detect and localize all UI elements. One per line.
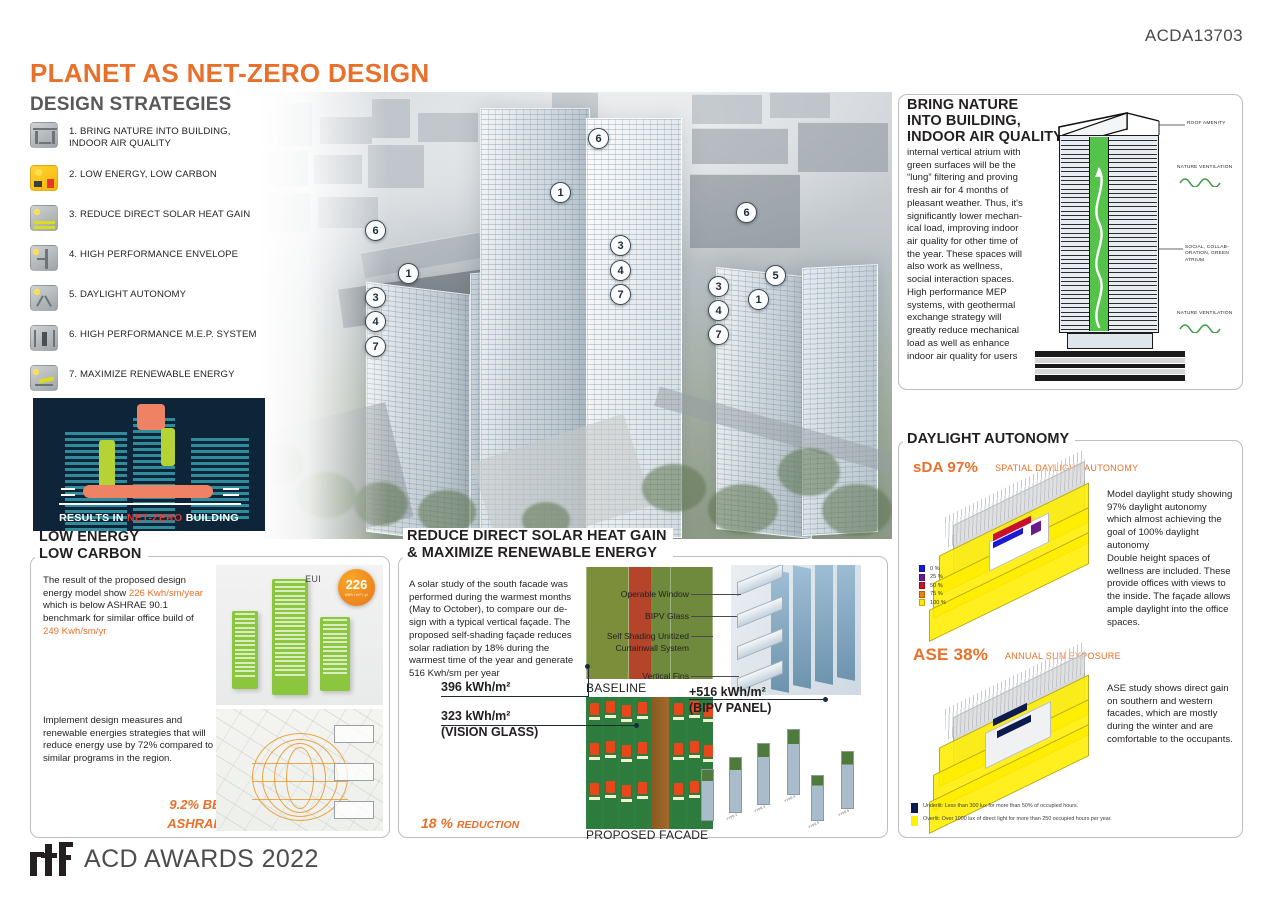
tree-cluster [822, 484, 892, 536]
le-hl2: 249 Kwh/sm/yr [43, 626, 106, 637]
sda-legend-row: 100 % [919, 599, 946, 606]
city-block [692, 94, 762, 124]
value-vision-glass: 323 kWh/m² [441, 709, 510, 723]
bipv-panel-type-label: TYPE 6 [838, 808, 850, 817]
legend-swatch [919, 574, 925, 581]
render-callout-1: 1 [550, 182, 571, 203]
ventilation-wave-icon [1179, 321, 1225, 333]
value-vision-glass-note: (VISION GLASS) [441, 725, 538, 739]
strategy-label: 4. HIGH PERFORMANCE ENVELOPE [69, 245, 238, 261]
massing-tower-mid [320, 617, 350, 691]
leader-line-bipv [689, 699, 825, 700]
sda-legend-row: 25 % [919, 574, 946, 581]
solar-title-line1: REDUCE DIRECT SOLAR HEAT GAIN [407, 528, 667, 545]
ase-sun-exposure-model-image [923, 671, 1113, 821]
legend-label: 0 % [930, 566, 940, 572]
city-block [320, 116, 372, 144]
leader-dot-bipv [823, 697, 828, 702]
strategy-item-1[interactable]: 1. BRING NATURE INTO BUILDING, INDOOR AI… [30, 122, 270, 151]
bipv-panel-strip [841, 751, 854, 809]
bipv-panel-type-label: TYPE 5 [808, 820, 820, 829]
reduction-callout: 18 % REDUCTION [421, 815, 519, 831]
bipv-panel-type-label: TYPE 3 [754, 804, 766, 813]
board-code: ACDA13703 [1145, 26, 1243, 46]
strategy-label: 5. DAYLIGHT AUTONOMY [69, 285, 186, 301]
facade-callout-label: Self Shading Unitized [585, 631, 689, 641]
proposed-facade-label: PROPOSED FACADE [586, 828, 708, 842]
strategy-item-7[interactable]: 7. MAXIMIZE RENEWABLE ENERGY [30, 365, 270, 391]
value-baseline: 396 kWh/m² [441, 680, 510, 694]
section-podium-band [1035, 351, 1185, 357]
label-nature-ventilation-top: NATURE VENTILATION [1177, 165, 1232, 171]
sda-legend: 0 %25 %50 %75 %100 % [919, 565, 946, 608]
facade-callout-label: Curtainwall System [585, 643, 689, 653]
design-strategies-heading: DESIGN STRATEGIES [30, 94, 232, 116]
mep-system-icon [30, 325, 58, 351]
ase-legend-row: Overlit: Over 1000 lux of direct light f… [911, 816, 1153, 826]
energy-model-massing-image: EUI 226 kWh / m² / yr [216, 565, 383, 705]
value-bipv-note: (BIPV PANEL) [689, 701, 771, 715]
strategy-item-5[interactable]: 5. DAYLIGHT AUTONOMY [30, 285, 270, 311]
city-block [368, 144, 424, 188]
bipv-panel-strip [729, 757, 742, 813]
site-callout-box [334, 801, 374, 819]
eui-value: 226 [346, 579, 368, 591]
sda-legend-row: 75 % [919, 591, 946, 598]
presentation-board: ACDA13703 PLANET AS NET-ZERO DESIGN DESI… [0, 0, 1273, 900]
nature-text-1: internal vertical atrium with green surf… [907, 147, 1025, 287]
envelope-icon [30, 245, 58, 271]
ventilation-wave-icon [1179, 175, 1225, 187]
city-block [798, 122, 888, 172]
aerial-render-image: 6166134734734751 [222, 92, 892, 539]
low-energy-text-2: Implement design measures and renewable … [43, 715, 215, 766]
bring-nature-panel: BRING NATURE INTO BUILDING, INDOOR AIR Q… [898, 94, 1243, 390]
bipv-panel-strip [701, 769, 714, 821]
massing-tower-tall [272, 579, 308, 695]
baseline-heatmap-image [586, 567, 713, 679]
strategy-label: 6. HIGH PERFORMANCE M.E.P. SYSTEM [69, 325, 257, 341]
render-callout-6: 6 [365, 220, 386, 241]
net-zero-caption: RESULTS IN NET-ZERO BUILDING [33, 512, 265, 524]
city-block [770, 92, 830, 118]
nz-caption-pre: RESULTS IN [59, 512, 127, 524]
bipv-panel-type-label: TYPE 4 [784, 794, 796, 803]
eui-unit: kWh / m² / yr [345, 593, 368, 597]
nz-solar-pv-icon [137, 404, 165, 430]
daylight-autonomy-panel: DAYLIGHT AUTONOMY sDA 97% SPATIAL DAYLIG… [898, 440, 1243, 838]
city-block [418, 112, 478, 142]
section-podium-band [1035, 364, 1185, 368]
eui-label: EUI [305, 574, 321, 584]
leader-dot-baseline [585, 664, 590, 669]
city-block [692, 128, 788, 164]
massing-tower-small [232, 611, 258, 689]
solar-description: A solar study of the south facade was pe… [409, 579, 584, 681]
proposed-facade-heatmap-image [586, 697, 713, 829]
render-callout-6: 6 [588, 128, 609, 149]
legend-label: 50 % [930, 583, 943, 589]
bipv-panel-type-label: TYPE 2 [726, 812, 738, 821]
low-energy-title-line2: LOW CARBON [39, 546, 142, 563]
nz-rule [223, 494, 239, 496]
facade-callout-label: BIPV Glass [585, 611, 689, 621]
site-callout-box [334, 725, 374, 743]
energy-carbon-icon [30, 165, 58, 191]
facade-glass [793, 565, 811, 689]
ase-text-1: ASE study shows direct gain on southern … [1107, 683, 1233, 747]
nz-green-core-center [161, 428, 175, 466]
footer-text: ACD AWARDS 2022 [84, 845, 319, 874]
facade-callout-leader [691, 616, 737, 617]
render-callout-7: 7 [610, 284, 631, 305]
bipv-panel-types-diagram: TYPE 1TYPE 2TYPE 3TYPE 4TYPE 5TYPE 6 [699, 717, 879, 829]
bipv-panel-type-label: TYPE 1 [698, 820, 710, 829]
facade-callout-leader [691, 594, 741, 595]
ase-legend-row: Underlit: Less than 300 lux for more tha… [911, 803, 1153, 813]
legend-label: Underlit: Less than 300 lux for more tha… [923, 803, 1153, 810]
daylight-icon [30, 285, 58, 311]
leader-line-vision [441, 725, 637, 726]
city-block [278, 102, 312, 146]
reduction-word: REDUCTION [457, 819, 519, 831]
legend-label: Overlit: Over 1000 lux of direct light f… [923, 816, 1153, 823]
ase-metric: ASE 38% [913, 645, 988, 665]
renewable-energy-icon [30, 365, 58, 391]
facade-callout-label: Vertical Fins [585, 671, 689, 681]
bridge-nature-icon [30, 122, 58, 148]
nz-rule [223, 488, 239, 490]
city-block [314, 154, 362, 184]
nature-text-2: High performance MEP systems, with geoth… [907, 287, 1025, 363]
strategy-item-4[interactable]: 4. HIGH PERFORMANCE ENVELOPE [30, 245, 270, 271]
solar-heat-gain-panel: REDUCE DIRECT SOLAR HEAT GAIN & MAXIMIZE… [398, 556, 888, 838]
legend-label: 25 % [930, 574, 943, 580]
tree-cluster [708, 484, 778, 534]
site-plan-image [216, 709, 383, 831]
nz-caption-highlight: NET-ZERO [127, 512, 182, 524]
legend-label: 100 % [930, 600, 946, 606]
sda-text-1: Model daylight study showing 97% dayligh… [1107, 489, 1233, 553]
facade-glass [815, 565, 833, 685]
design-strategies-list: 1. BRING NATURE INTO BUILDING, INDOOR AI… [30, 122, 270, 405]
strategy-label: 7. MAXIMIZE RENEWABLE ENERGY [69, 365, 235, 381]
sun-path-line [252, 799, 348, 800]
daylight-panel-title: DAYLIGHT AUTONOMY [903, 431, 1075, 447]
sda-daylight-model-image [923, 479, 1113, 629]
section-podium-band [1035, 358, 1185, 363]
facade-axonometric-image [731, 565, 861, 695]
sda-text-2: Double height spaces of wellness are inc… [1107, 553, 1233, 629]
render-callout-5: 5 [765, 265, 786, 286]
label-roof-amenity: ROOF AMENITY [1187, 121, 1226, 127]
nz-ground-line [59, 503, 241, 505]
nz-right-stack [191, 438, 249, 522]
nz-rule [61, 494, 75, 496]
legend-swatch [911, 803, 918, 813]
low-energy-panel: LOW ENERGY LOW CARBON The result of the … [30, 556, 390, 838]
legend-swatch [919, 582, 925, 589]
strategy-label: 2. LOW ENERGY, LOW CARBON [69, 165, 217, 181]
render-callout-1: 1 [748, 289, 769, 310]
rtf-logo-icon [30, 842, 74, 876]
strategy-label: 1. BRING NATURE INTO BUILDING, INDOOR AI… [69, 122, 231, 151]
render-callout-4: 4 [708, 300, 729, 321]
facade-callout-label: Operable Window [585, 589, 689, 599]
render-callout-3: 3 [610, 235, 631, 256]
strategy-item-3[interactable]: 3. REDUCE DIRECT SOLAR HEAT GAIN [30, 205, 270, 231]
facade-callout-leader [691, 676, 739, 677]
legend-label: 75 % [930, 591, 943, 597]
baseline-label: BASELINE [586, 681, 646, 695]
legend-swatch [911, 816, 918, 826]
nz-program-bar [83, 485, 213, 498]
tree-cluster [354, 482, 408, 526]
tree-cluster [642, 464, 706, 512]
strategy-label: 3. REDUCE DIRECT SOLAR HEAT GAIN [69, 205, 250, 221]
solar-panel-title: REDUCE DIRECT SOLAR HEAT GAIN & MAXIMIZE… [403, 528, 673, 562]
render-callout-7: 7 [708, 324, 729, 345]
bipv-panel-strip [757, 743, 770, 805]
render-callout-3: 3 [365, 287, 386, 308]
atrium-airflow-wiggle [1088, 137, 1110, 335]
label-nature-ventilation-bottom: NATURE VENTILATION [1177, 311, 1232, 317]
city-block [372, 98, 410, 138]
site-callout-box [334, 763, 374, 781]
section-podium-upper [1067, 333, 1153, 349]
facade-glass [837, 565, 855, 681]
net-zero-diagram: RESULTS IN NET-ZERO BUILDING [33, 398, 265, 531]
reduction-number: 18 % [421, 815, 453, 831]
solar-title-line2: & MAXIMIZE RENEWABLE ENERGY [407, 545, 667, 562]
render-callout-4: 4 [365, 311, 386, 332]
page-title: PLANET AS NET-ZERO DESIGN [30, 58, 429, 89]
section-podium-band [1035, 369, 1185, 374]
sun-path-line [252, 781, 348, 782]
nz-caption-post: BUILDING [182, 512, 238, 524]
section-podium-band [1035, 375, 1185, 381]
label-social-atrium: SOCIAL, COLLAB- ORATION, GREEN ATRIUM [1185, 245, 1229, 264]
legend-swatch [919, 591, 925, 598]
low-energy-title: LOW ENERGY LOW CARBON [35, 529, 148, 563]
render-callout-3: 3 [708, 276, 729, 297]
ase-legend: Underlit: Less than 300 lux for more tha… [911, 803, 1153, 829]
le-hl1: 226 Kwh/sm/year [129, 588, 203, 599]
bipv-panel-strip [787, 729, 800, 795]
tree-cluster [778, 448, 840, 496]
sda-legend-row: 0 % [919, 565, 946, 572]
sda-metric: sDA 97% [913, 459, 978, 476]
low-energy-text-1: The result of the proposed design energy… [43, 575, 211, 639]
tree-cluster [296, 472, 356, 518]
render-callout-6: 6 [736, 202, 757, 223]
strategy-item-6[interactable]: 6. HIGH PERFORMANCE M.E.P. SYSTEM [30, 325, 270, 351]
le-p2: which is below ASHRAE 90.1 benchmark for… [43, 600, 194, 624]
render-callout-7: 7 [365, 336, 386, 357]
value-bipv: +516 kWh/m² [689, 685, 766, 699]
leader-dot-vision [634, 723, 639, 728]
leader-line-baseline [441, 696, 589, 697]
bipv-panel-strip [811, 775, 824, 821]
render-callout-4: 4 [610, 260, 631, 281]
legend-swatch [919, 565, 925, 572]
nz-rule [61, 488, 75, 490]
solar-shading-icon [30, 205, 58, 231]
facade-callout-leader [691, 636, 713, 637]
eui-badge: 226 kWh / m² / yr [338, 569, 375, 606]
render-callout-1: 1 [398, 263, 419, 284]
low-energy-title-line1: LOW ENERGY [39, 529, 142, 546]
strategy-item-2[interactable]: 2. LOW ENERGY, LOW CARBON [30, 165, 270, 191]
sda-legend-row: 50 % [919, 582, 946, 589]
building-section-diagram: ROOF AMENITY NATURE VENTILATION SOCIAL, … [1027, 101, 1237, 383]
footer: ACD AWARDS 2022 [30, 842, 319, 876]
legend-swatch [919, 599, 925, 606]
